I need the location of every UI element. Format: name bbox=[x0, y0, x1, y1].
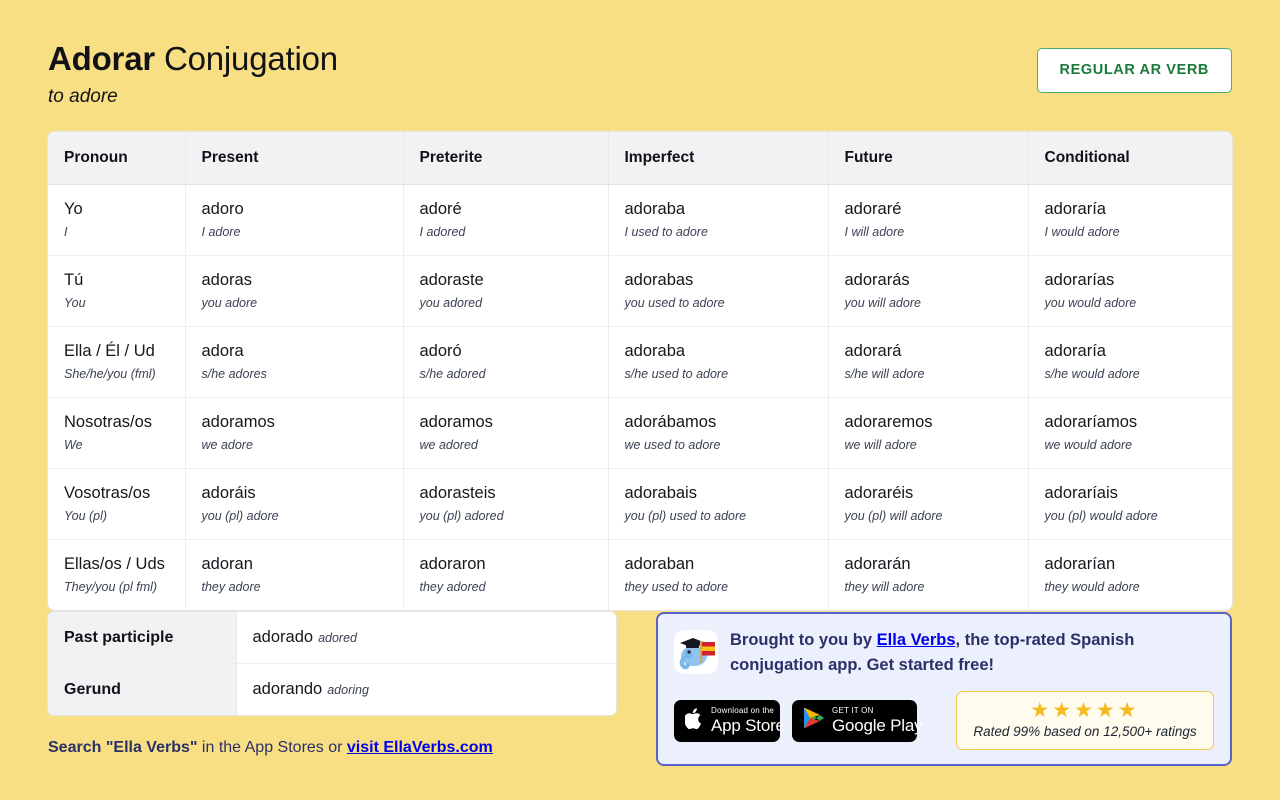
cell-conditional: adorarían they would adore bbox=[1028, 540, 1232, 611]
bottom-section: Past participle adoradoadored Gerund ado… bbox=[48, 612, 1232, 766]
promo-text: Brought to you by Ella Verbs, the top-ra… bbox=[730, 628, 1214, 678]
form-translation: s/he adored bbox=[420, 365, 608, 383]
app-store-big: App Store bbox=[711, 716, 785, 735]
conjugated-form: adoramos bbox=[420, 411, 608, 433]
conjugated-form: adorarán bbox=[845, 553, 1028, 575]
conjugation-table: Pronoun Present Preterite Imperfect Futu… bbox=[48, 132, 1232, 610]
past-participle-label: Past participle bbox=[48, 612, 236, 664]
cell-pronoun: Vosotras/os You (pl) bbox=[48, 469, 185, 540]
table-row: Vosotras/os You (pl) adoráis you (pl) ad… bbox=[48, 469, 1232, 540]
conjugated-form: adoraron bbox=[420, 553, 608, 575]
past-participle-form: adorado bbox=[253, 628, 314, 646]
form-translation: you adore bbox=[202, 294, 403, 312]
pronoun-text: Vosotras/os bbox=[64, 482, 185, 504]
conjugated-form: adorarías bbox=[1045, 269, 1233, 291]
cell-imperfect: adorábamos we used to adore bbox=[608, 398, 828, 469]
cell-present: adoro I adore bbox=[185, 185, 403, 256]
google-play-big: Google Play bbox=[832, 716, 922, 735]
ellaverbs-website-link[interactable]: visit EllaVerbs.com bbox=[347, 739, 493, 756]
cell-imperfect: adoraba s/he used to adore bbox=[608, 327, 828, 398]
form-translation: I used to adore bbox=[625, 223, 828, 241]
pronoun-text: Nosotras/os bbox=[64, 411, 185, 433]
cell-future: adoraréis you (pl) will adore bbox=[828, 469, 1028, 540]
conjugated-form: adoraba bbox=[625, 340, 828, 362]
form-translation: you will adore bbox=[845, 294, 1028, 312]
cell-imperfect: adoraba I used to adore bbox=[608, 185, 828, 256]
conjugated-form: adoraríais bbox=[1045, 482, 1233, 504]
google-play-small: GET IT ON bbox=[832, 706, 922, 716]
promo-top-row: Brought to you by Ella Verbs, the top-ra… bbox=[674, 628, 1214, 678]
pronoun-translation: You (pl) bbox=[64, 507, 185, 525]
verb-type-badge[interactable]: REGULAR AR VERB bbox=[1037, 48, 1232, 93]
extras-column: Past participle adoradoadored Gerund ado… bbox=[48, 612, 616, 766]
promo-bottom-row: Download on the App Store bbox=[674, 691, 1214, 750]
google-play-badge[interactable]: GET IT ON Google Play bbox=[792, 700, 917, 742]
form-translation: they adore bbox=[202, 578, 403, 596]
apple-logo-icon bbox=[685, 707, 704, 735]
form-translation: I adore bbox=[202, 223, 403, 241]
conjugated-form: adorasteis bbox=[420, 482, 608, 504]
form-translation: I would adore bbox=[1045, 223, 1233, 241]
google-play-text: GET IT ON Google Play bbox=[832, 706, 922, 735]
form-translation: you would adore bbox=[1045, 294, 1233, 312]
table-row: Nosotras/os We adoramos we adore adoramo… bbox=[48, 398, 1232, 469]
app-store-text: Download on the App Store bbox=[711, 706, 785, 735]
column-header-future: Future bbox=[828, 132, 1028, 185]
star-rating-icon: ★★★★★ bbox=[971, 698, 1199, 723]
form-translation: they used to adore bbox=[625, 578, 828, 596]
column-header-preterite: Preterite bbox=[403, 132, 608, 185]
header-row: Pronoun Present Preterite Imperfect Futu… bbox=[48, 132, 1232, 185]
cell-pronoun: Yo I bbox=[48, 185, 185, 256]
cell-present: adoramos we adore bbox=[185, 398, 403, 469]
conjugated-form: adoran bbox=[202, 553, 403, 575]
form-translation: they will adore bbox=[845, 578, 1028, 596]
cell-preterite: adoré I adored bbox=[403, 185, 608, 256]
pronoun-translation: I bbox=[64, 223, 185, 241]
cell-future: adorarán they will adore bbox=[828, 540, 1028, 611]
conjugated-form: adoras bbox=[202, 269, 403, 291]
form-translation: you (pl) adored bbox=[420, 507, 608, 525]
cell-preterite: adorasteis you (pl) adored bbox=[403, 469, 608, 540]
gerund-value: adorandoadoring bbox=[236, 664, 616, 716]
cell-preterite: adoró s/he adored bbox=[403, 327, 608, 398]
page-title: Adorar Conjugation bbox=[48, 38, 338, 80]
table-row: Ellas/os / Uds They/you (pl fml) adoran … bbox=[48, 540, 1232, 611]
cell-conditional: adoraríais you (pl) would adore bbox=[1028, 469, 1232, 540]
conjugated-form: adoraréis bbox=[845, 482, 1028, 504]
conjugated-form: adoraba bbox=[625, 198, 828, 220]
conjugated-form: adorábamos bbox=[625, 411, 828, 433]
gerund-translation: adoring bbox=[327, 683, 369, 697]
search-prompt: Search "Ella Verbs" in the App Stores or… bbox=[48, 737, 616, 759]
app-store-small: Download on the bbox=[711, 706, 785, 716]
pronoun-text: Ellas/os / Uds bbox=[64, 553, 185, 575]
cell-preterite: adoraste you adored bbox=[403, 256, 608, 327]
conjugated-form: adoraría bbox=[1045, 198, 1233, 220]
past-participle-value: adoradoadored bbox=[236, 612, 616, 664]
cell-future: adorará s/he will adore bbox=[828, 327, 1028, 398]
cell-pronoun: Ellas/os / Uds They/you (pl fml) bbox=[48, 540, 185, 611]
past-participle-translation: adored bbox=[318, 631, 357, 645]
form-translation: you adored bbox=[420, 294, 608, 312]
form-translation: s/he adores bbox=[202, 365, 403, 383]
form-translation: we adore bbox=[202, 436, 403, 454]
conjugated-form: adoro bbox=[202, 198, 403, 220]
cell-pronoun: Ella / Él / Ud She/he/you (fml) bbox=[48, 327, 185, 398]
ella-verbs-link[interactable]: Ella Verbs bbox=[877, 631, 956, 649]
conjugated-form: adorabais bbox=[625, 482, 828, 504]
rating-text: Rated 99% based on 12,500+ ratings bbox=[971, 723, 1199, 741]
form-translation: they would adore bbox=[1045, 578, 1233, 596]
conjugated-form: adorarían bbox=[1045, 553, 1233, 575]
form-translation: you (pl) will adore bbox=[845, 507, 1028, 525]
column-header-imperfect: Imperfect bbox=[608, 132, 828, 185]
extras-table: Past participle adoradoadored Gerund ado… bbox=[48, 612, 616, 715]
form-translation: s/he would adore bbox=[1045, 365, 1233, 383]
title-block: Adorar Conjugation to adore bbox=[48, 34, 338, 110]
gerund-form: adorando bbox=[253, 680, 323, 698]
cell-future: adorarás you will adore bbox=[828, 256, 1028, 327]
form-translation: you (pl) adore bbox=[202, 507, 403, 525]
conjugated-form: adoraremos bbox=[845, 411, 1028, 433]
form-translation: we will adore bbox=[845, 436, 1028, 454]
conjugated-form: adoraste bbox=[420, 269, 608, 291]
column-header-conditional: Conditional bbox=[1028, 132, 1232, 185]
form-translation: you (pl) used to adore bbox=[625, 507, 828, 525]
page-title-rest: Conjugation bbox=[155, 40, 338, 77]
form-translation: I will adore bbox=[845, 223, 1028, 241]
pronoun-translation: They/you (pl fml) bbox=[64, 578, 185, 596]
conjugated-form: adora bbox=[202, 340, 403, 362]
verb-translation: to adore bbox=[48, 84, 338, 110]
form-translation: we adored bbox=[420, 436, 608, 454]
cell-conditional: adoraría s/he would adore bbox=[1028, 327, 1232, 398]
form-translation: s/he will adore bbox=[845, 365, 1028, 383]
cell-present: adoran they adore bbox=[185, 540, 403, 611]
cell-pronoun: Tú You bbox=[48, 256, 185, 327]
gerund-label: Gerund bbox=[48, 664, 236, 716]
conjugated-form: adorará bbox=[845, 340, 1028, 362]
cell-pronoun: Nosotras/os We bbox=[48, 398, 185, 469]
search-prompt-plain: in the App Stores or bbox=[197, 739, 346, 756]
conjugated-form: adoraré bbox=[845, 198, 1028, 220]
cell-present: adora s/he adores bbox=[185, 327, 403, 398]
cell-present: adoráis you (pl) adore bbox=[185, 469, 403, 540]
ella-verbs-app-icon bbox=[674, 630, 718, 674]
page-header: Adorar Conjugation to adore REGULAR AR V… bbox=[48, 34, 1232, 110]
table-row: Tú You adoras you adore adoraste you ado… bbox=[48, 256, 1232, 327]
table-row: Yo I adoro I adore adoré I adored adorab… bbox=[48, 185, 1232, 256]
column-header-present: Present bbox=[185, 132, 403, 185]
promo-box: Brought to you by Ella Verbs, the top-ra… bbox=[656, 612, 1232, 766]
table-row: Past participle adoradoadored bbox=[48, 612, 616, 664]
column-header-pronoun: Pronoun bbox=[48, 132, 185, 185]
cell-imperfect: adoraban they used to adore bbox=[608, 540, 828, 611]
promo-text-before: Brought to you by bbox=[730, 631, 877, 649]
rating-box: ★★★★★ Rated 99% based on 12,500+ ratings bbox=[956, 691, 1214, 750]
form-translation: we used to adore bbox=[625, 436, 828, 454]
pronoun-translation: She/he/you (fml) bbox=[64, 365, 185, 383]
form-translation: s/he used to adore bbox=[625, 365, 828, 383]
conjugated-form: adoré bbox=[420, 198, 608, 220]
conjugated-form: adoráis bbox=[202, 482, 403, 504]
google-play-icon bbox=[803, 706, 825, 735]
conjugated-form: adoraría bbox=[1045, 340, 1233, 362]
pronoun-text: Tú bbox=[64, 269, 185, 291]
conjugation-table-header: Pronoun Present Preterite Imperfect Futu… bbox=[48, 132, 1232, 185]
cell-future: adoraré I will adore bbox=[828, 185, 1028, 256]
form-translation: we would adore bbox=[1045, 436, 1233, 454]
cell-imperfect: adorabais you (pl) used to adore bbox=[608, 469, 828, 540]
cell-present: adoras you adore bbox=[185, 256, 403, 327]
pronoun-text: Ella / Él / Ud bbox=[64, 340, 185, 362]
conjugated-form: adorarás bbox=[845, 269, 1028, 291]
conjugation-table-body: Yo I adoro I adore adoré I adored adorab… bbox=[48, 185, 1232, 611]
pronoun-text: Yo bbox=[64, 198, 185, 220]
conjugated-form: adoramos bbox=[202, 411, 403, 433]
conjugated-form: adoraban bbox=[625, 553, 828, 575]
verb-name: Adorar bbox=[48, 40, 155, 77]
cell-preterite: adoramos we adored bbox=[403, 398, 608, 469]
form-translation: you used to adore bbox=[625, 294, 828, 312]
conjugated-form: adoraríamos bbox=[1045, 411, 1233, 433]
table-row: Gerund adorandoadoring bbox=[48, 664, 616, 716]
pronoun-translation: We bbox=[64, 436, 185, 454]
cell-imperfect: adorabas you used to adore bbox=[608, 256, 828, 327]
form-translation: you (pl) would adore bbox=[1045, 507, 1233, 525]
cell-conditional: adoraría I would adore bbox=[1028, 185, 1232, 256]
conjugated-form: adoró bbox=[420, 340, 608, 362]
search-prompt-bold: Search "Ella Verbs" bbox=[48, 739, 197, 756]
table-row: Ella / Él / Ud She/he/you (fml) adora s/… bbox=[48, 327, 1232, 398]
form-translation: I adored bbox=[420, 223, 608, 241]
cell-future: adoraremos we will adore bbox=[828, 398, 1028, 469]
form-translation: they adored bbox=[420, 578, 608, 596]
cell-preterite: adoraron they adored bbox=[403, 540, 608, 611]
conjugated-form: adorabas bbox=[625, 269, 828, 291]
app-store-badge[interactable]: Download on the App Store bbox=[674, 700, 780, 742]
cell-conditional: adorarías you would adore bbox=[1028, 256, 1232, 327]
cell-conditional: adoraríamos we would adore bbox=[1028, 398, 1232, 469]
pronoun-translation: You bbox=[64, 294, 185, 312]
page-root: Adorar Conjugation to adore REGULAR AR V… bbox=[0, 0, 1280, 800]
